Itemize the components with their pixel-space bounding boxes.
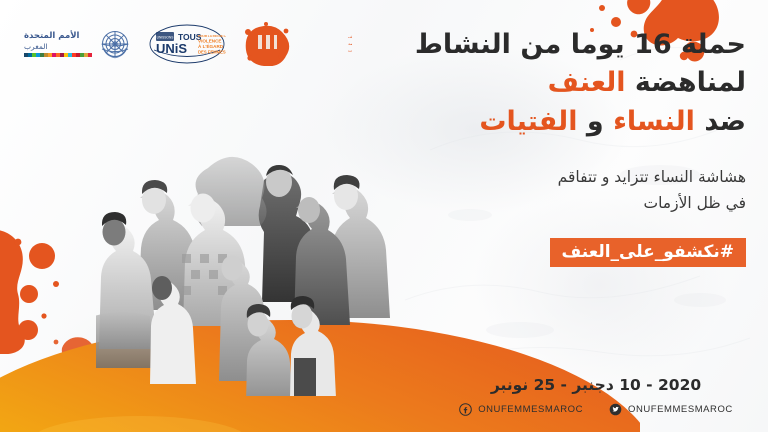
facebook-handle: ONUFEMMESMAROC bbox=[478, 404, 583, 415]
headline-line-3: ضد النساء و الفتيات bbox=[376, 103, 746, 141]
logo-un-morocco: الأمم المتحدة المغرب bbox=[24, 27, 132, 61]
social-links: ONUFEMMESMAROC ONUFEMMESMAROC bbox=[446, 403, 746, 416]
headline-line-1: حملة 16 يوما من النشاط bbox=[376, 26, 746, 64]
footer: 2020 - 10 دجنبر - 25 نونبر ONUFEMMESMARO… bbox=[446, 376, 746, 416]
message-column: حملة 16 يوما من النشاط لمناهضة العنف ضد … bbox=[376, 26, 746, 267]
social-facebook[interactable]: ONUFEMMESMAROC bbox=[459, 403, 583, 416]
hashtag-row: #نكشفو_على_العنف bbox=[376, 238, 746, 267]
subheading-line-2: في ظل الأزمات bbox=[376, 191, 746, 217]
subheading-line-1: هشاشة النساء تتزايد و تتفاقم bbox=[376, 165, 746, 191]
headline-line-3-accent-1: النساء bbox=[613, 106, 695, 137]
subheading: هشاشة النساء تتزايد و تتفاقم في ظل الأزم… bbox=[376, 165, 746, 216]
facebook-icon[interactable] bbox=[459, 403, 472, 416]
headline-line-2: لمناهضة العنف bbox=[376, 64, 746, 102]
sdg-color-bar bbox=[24, 53, 92, 57]
logo-un-line2: المغرب bbox=[24, 42, 48, 51]
svg-text:À L'ÉGARD: À L'ÉGARD bbox=[198, 42, 224, 49]
un-emblem-icon bbox=[98, 27, 132, 61]
svg-text:DES FEMMES: DES FEMMES bbox=[198, 50, 226, 55]
social-twitter[interactable]: ONUFEMMESMAROC bbox=[609, 403, 733, 416]
logo-un-text: الأمم المتحدة المغرب bbox=[24, 31, 92, 57]
svg-text:النساء والفتيات: النساء والفتيات bbox=[348, 49, 352, 54]
headline-line-3-accent-2: الفتيات bbox=[479, 106, 577, 137]
headline-line-3-plain-2: و bbox=[587, 106, 604, 137]
svg-text:VIOLENCE: VIOLENCE bbox=[198, 39, 221, 44]
twitter-icon[interactable] bbox=[609, 403, 622, 416]
headline-line-3-plain-1: ضد bbox=[704, 106, 746, 137]
logo-un-line1: الأمم المتحدة bbox=[24, 31, 79, 42]
logo-row: الأمم المتحدة المغرب bbox=[24, 22, 352, 66]
logo-tous-unis: UNISSONS TOUS UNiS POUR LA FIN DE LA VIO… bbox=[148, 23, 226, 65]
campaign-date-range: 2020 - 10 دجنبر - 25 نونبر bbox=[446, 376, 746, 394]
campaign-poster: الأمم المتحدة المغرب bbox=[0, 0, 768, 432]
twitter-handle: ONUFEMMESMAROC bbox=[628, 404, 733, 415]
campaign-hashtag-badge: #نكشفو_على_العنف bbox=[550, 238, 746, 267]
headline-line-2-plain: لمناهضة bbox=[635, 67, 746, 98]
headline-line-2-accent: العنف bbox=[548, 67, 626, 98]
people-photo-collage bbox=[96, 146, 396, 396]
svg-text:اجتمعوا على العنف: اجتمعوا على العنف bbox=[348, 34, 352, 39]
headline: حملة 16 يوما من النشاط لمناهضة العنف ضد … bbox=[376, 26, 746, 141]
svg-text:UNISSONS: UNISSONS bbox=[157, 36, 174, 40]
svg-text:UNiS: UNiS bbox=[156, 41, 187, 56]
svg-text:POUR LA FIN DE LA: POUR LA FIN DE LA bbox=[198, 34, 226, 38]
svg-text:لا للعنف ضد: لا للعنف ضد bbox=[348, 42, 352, 47]
logo-splash-campaign: اجتمعوا على العنف لا للعنف ضد النساء وال… bbox=[242, 22, 352, 66]
